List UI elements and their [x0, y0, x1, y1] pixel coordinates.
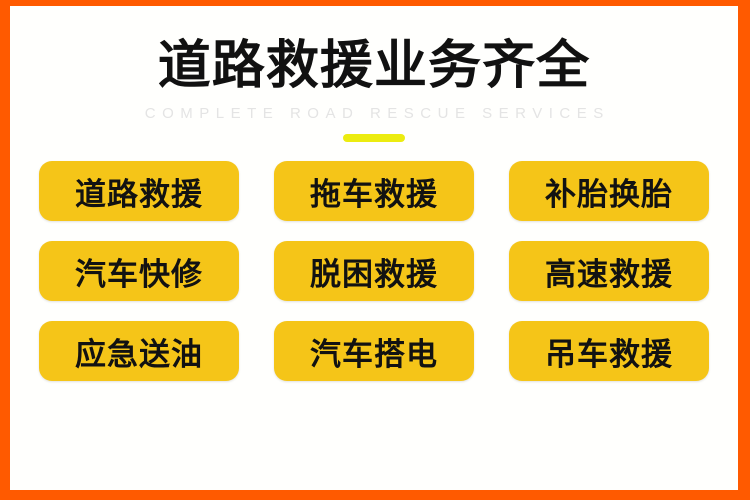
- service-button-fuel-delivery[interactable]: 应急送油: [39, 321, 239, 381]
- poster-card: 道路救援业务齐全 COMPLETE ROAD RESCUE SERVICES 道…: [10, 6, 738, 490]
- poster-header: 道路救援业务齐全 COMPLETE ROAD RESCUE SERVICES: [10, 6, 738, 142]
- service-button-quick-repair[interactable]: 汽车快修: [39, 241, 239, 301]
- services-grid: 道路救援 拖车救援 补胎换胎 汽车快修 脱困救援 高速救援 应急送油 汽车搭电 …: [39, 161, 709, 381]
- service-button-crane-rescue[interactable]: 吊车救援: [509, 321, 709, 381]
- service-button-road-rescue[interactable]: 道路救援: [39, 161, 239, 221]
- service-button-tow-rescue[interactable]: 拖车救援: [274, 161, 474, 221]
- service-button-highway-rescue[interactable]: 高速救援: [509, 241, 709, 301]
- service-button-extrication[interactable]: 脱困救援: [274, 241, 474, 301]
- page-title: 道路救援业务齐全: [3, 40, 746, 92]
- services-section: 道路救援 拖车救援 补胎换胎 汽车快修 脱困救援 高速救援 应急送油 汽车搭电 …: [10, 142, 738, 490]
- service-button-tire-repair[interactable]: 补胎换胎: [509, 161, 709, 221]
- poster-root: 道路救援业务齐全 COMPLETE ROAD RESCUE SERVICES 道…: [0, 0, 750, 500]
- page-subtitle: COMPLETE ROAD RESCUE SERVICES: [10, 105, 738, 122]
- service-button-jump-start[interactable]: 汽车搭电: [274, 321, 474, 381]
- title-divider: [343, 134, 405, 142]
